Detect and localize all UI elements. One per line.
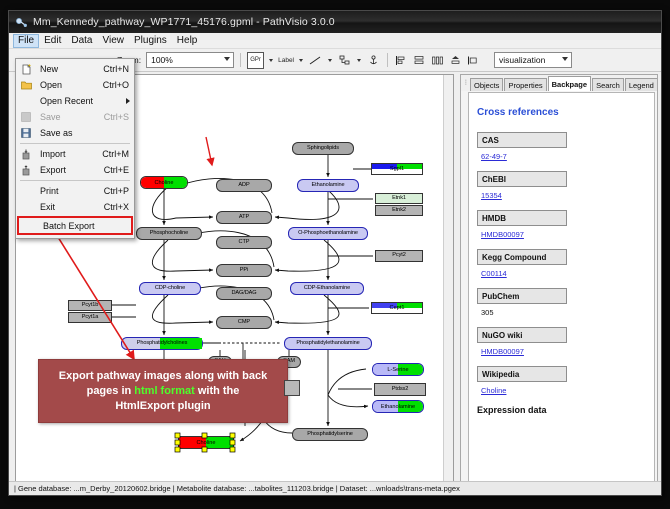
window-title: Mm_Kennedy_pathway_WP1771_45176.gpml - P…: [33, 16, 335, 28]
blank-icon: [18, 185, 34, 198]
xref-label-hmdb: HMDB: [477, 210, 567, 226]
menu-bar: File Edit Data View Plugins Help: [9, 33, 661, 49]
menu-file[interactable]: File: [13, 34, 39, 48]
toolbar-divider: [240, 53, 241, 67]
menu-item-export-label: Export: [34, 165, 104, 175]
datanode-icon[interactable]: GPr: [247, 52, 264, 69]
tab-properties[interactable]: Properties: [504, 78, 546, 91]
xref-value-hmdb[interactable]: HMDB00097: [481, 230, 646, 239]
shape-handle[interactable]: [284, 380, 300, 396]
menu-item-open[interactable]: Open Ctrl+O: [16, 77, 134, 93]
menu-item-save-as-label: Save as: [34, 128, 129, 138]
save-icon: [18, 111, 34, 124]
menu-item-print-accel: Ctrl+P: [104, 186, 134, 196]
menu-separator: [20, 180, 130, 181]
xref-label-pubchem: PubChem: [477, 288, 567, 304]
menu-item-open-accel: Ctrl+O: [103, 80, 134, 90]
chevron-down-icon: [562, 57, 568, 61]
menu-item-new-accel: Ctrl+N: [103, 64, 134, 74]
menu-item-save-accel: Ctrl+S: [104, 112, 134, 122]
submenu-arrow-icon: [126, 98, 130, 104]
menu-item-open-recent[interactable]: Open Recent: [16, 93, 134, 109]
panel-splitter-icon[interactable]: ⋮: [463, 79, 469, 86]
menu-item-batch-export[interactable]: Batch Export: [17, 216, 133, 235]
callout-html-format: html format: [134, 385, 195, 397]
expression-data-heading: Expression data: [477, 405, 646, 415]
pathvisio-app-icon: [15, 16, 28, 29]
save-as-icon: [18, 127, 34, 140]
align-stack-icon[interactable]: [412, 53, 427, 68]
xref-value-cas[interactable]: 62-49-7: [481, 152, 646, 161]
anchor-icon[interactable]: [366, 53, 381, 68]
menu-item-exit-accel: Ctrl+X: [104, 202, 134, 212]
tab-backpage[interactable]: Backpage: [548, 76, 591, 91]
blank-icon: [18, 95, 34, 108]
distribute-icon[interactable]: [430, 53, 445, 68]
menu-item-exit-label: Exit: [34, 202, 104, 212]
xref-value-kegg[interactable]: C00114: [481, 269, 646, 278]
callout-line-2-a: pages in: [87, 385, 135, 397]
menu-item-new[interactable]: New Ctrl+N: [16, 61, 134, 77]
menu-item-print-label: Print: [34, 186, 104, 196]
align-left-icon[interactable]: [394, 53, 409, 68]
file-menu-dropdown[interactable]: New Ctrl+N Open Ctrl+O Open Recent Save: [15, 58, 135, 239]
menu-item-open-label: Open: [34, 80, 103, 90]
xref-value-wikipedia[interactable]: Choline: [481, 386, 646, 395]
menu-item-import[interactable]: Import Ctrl+M: [16, 146, 134, 162]
tab-search[interactable]: Search: [592, 78, 624, 91]
label-tool-label[interactable]: Label: [278, 57, 294, 64]
menu-item-print[interactable]: Print Ctrl+P: [16, 183, 134, 199]
callout-line-3: HtmlExport plugin: [115, 399, 210, 414]
blank-icon: [18, 201, 34, 214]
chevron-down-icon[interactable]: [269, 59, 273, 62]
menu-item-save-label: Save: [34, 112, 104, 122]
xref-label-wikipedia: Wikipedia: [477, 366, 567, 382]
menu-help[interactable]: Help: [172, 34, 203, 48]
send-back-icon[interactable]: [448, 53, 463, 68]
xref-label-kegg: Kegg Compound: [477, 249, 567, 265]
chevron-down-icon[interactable]: [357, 59, 361, 62]
export-icon: [18, 164, 34, 177]
tab-legend[interactable]: Legend: [625, 78, 658, 91]
menu-item-exit[interactable]: Exit Ctrl+X: [16, 199, 134, 215]
menu-data[interactable]: Data: [66, 34, 97, 48]
menu-edit[interactable]: Edit: [39, 34, 66, 48]
chevron-down-icon[interactable]: [299, 59, 303, 62]
bring-front-icon[interactable]: [466, 53, 481, 68]
import-icon: [18, 148, 34, 161]
menu-item-export-accel: Ctrl+E: [104, 165, 134, 175]
menu-item-export[interactable]: Export Ctrl+E: [16, 162, 134, 178]
chevron-down-icon[interactable]: [328, 59, 332, 62]
toolbar-divider: [387, 53, 388, 67]
visualization-value: visualization: [499, 55, 545, 65]
blank-icon: [21, 219, 37, 232]
side-panel: ⋮ Objects Properties Backpage Search Leg…: [460, 74, 658, 496]
xref-label-cas: CAS: [477, 132, 567, 148]
menu-item-save-as[interactable]: Save as: [16, 125, 134, 141]
xref-value-nugo[interactable]: HMDB00097: [481, 347, 646, 356]
menu-item-open-recent-label: Open Recent: [34, 96, 134, 106]
open-folder-icon: [18, 79, 34, 92]
cross-references-heading: Cross references: [477, 107, 646, 118]
annotation-callout: Export pathway images along with back pa…: [38, 359, 288, 423]
xref-value-pubchem: 305: [481, 308, 646, 317]
menu-plugins[interactable]: Plugins: [129, 34, 172, 48]
callout-line-2: pages in html format with the: [87, 384, 240, 399]
callout-line-2-b: with the: [195, 385, 240, 397]
xref-label-nugo: NuGO wiki: [477, 327, 567, 343]
menu-item-import-accel: Ctrl+M: [102, 149, 134, 159]
new-file-icon: [18, 63, 34, 76]
menu-view[interactable]: View: [97, 34, 129, 48]
callout-line-1: Export pathway images along with back: [59, 369, 267, 384]
menu-item-new-label: New: [34, 64, 103, 74]
line-icon[interactable]: [308, 53, 323, 68]
interaction-icon[interactable]: [337, 53, 352, 68]
tab-objects[interactable]: Objects: [470, 78, 503, 91]
visualization-combo[interactable]: visualization: [494, 52, 572, 68]
pathvisio-window: Mm_Kennedy_pathway_WP1771_45176.gpml - P…: [8, 10, 662, 496]
menu-item-import-label: Import: [34, 149, 102, 159]
zoom-combo[interactable]: 100%: [146, 52, 234, 68]
xref-value-chebi[interactable]: 15354: [481, 191, 646, 200]
title-bar: Mm_Kennedy_pathway_WP1771_45176.gpml - P…: [9, 11, 661, 33]
xref-label-chebi: ChEBI: [477, 171, 567, 187]
screenshot-root: Mm_Kennedy_pathway_WP1771_45176.gpml - P…: [0, 0, 670, 509]
chevron-down-icon: [224, 57, 230, 61]
menu-item-save: Save Ctrl+S: [16, 109, 134, 125]
menu-separator: [20, 143, 130, 144]
menu-item-batch-export-label: Batch Export: [37, 221, 131, 231]
panel-tabs: Objects Properties Backpage Search Legen…: [461, 75, 657, 91]
backpage-content: Cross references CAS 62-49-7 ChEBI 15354…: [468, 92, 655, 496]
zoom-value: 100%: [151, 55, 173, 65]
